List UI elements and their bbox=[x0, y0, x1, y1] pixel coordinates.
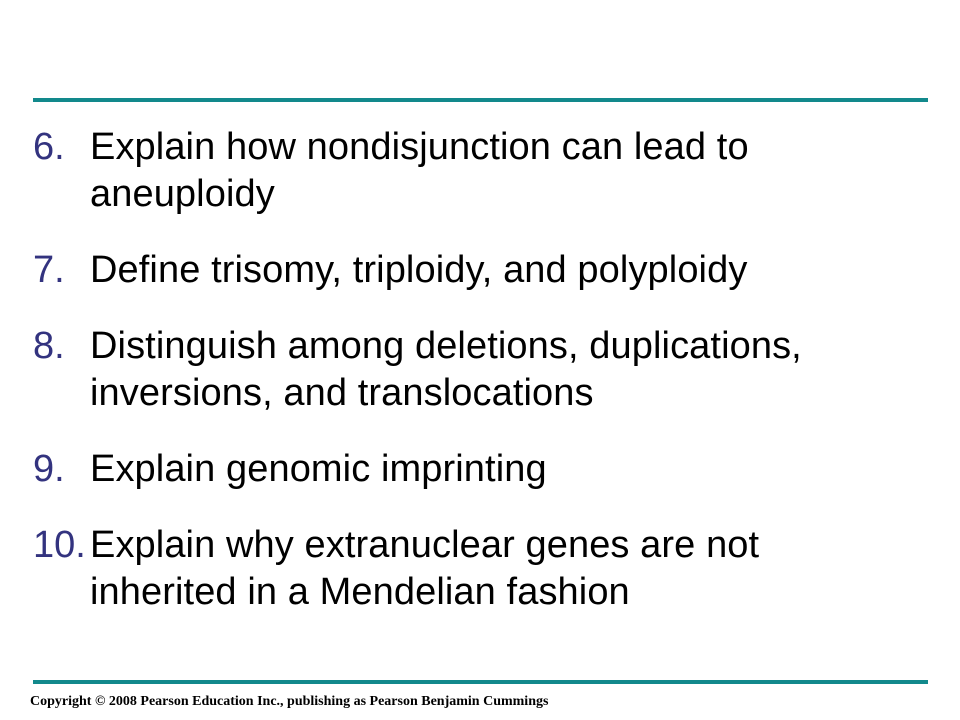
list-item-number: 9. bbox=[33, 446, 90, 493]
list-item: 8. Distinguish among deletions, duplicat… bbox=[33, 323, 913, 417]
list-item-text: Explain genomic imprinting bbox=[90, 446, 913, 493]
list-item-text: Distinguish among deletions, duplication… bbox=[90, 323, 913, 417]
list-item-number: 8. bbox=[33, 323, 90, 370]
list-item-number: 6. bbox=[33, 124, 90, 171]
copyright-footer: Copyright © 2008 Pearson Education Inc.,… bbox=[30, 693, 548, 711]
list-item: 7. Define trisomy, triploidy, and polypl… bbox=[33, 247, 913, 294]
list-item-number: 7. bbox=[33, 247, 90, 294]
list-item: 9. Explain genomic imprinting bbox=[33, 446, 913, 493]
top-divider-rule bbox=[33, 98, 928, 102]
list-item-text: Define trisomy, triploidy, and polyploid… bbox=[90, 247, 913, 294]
list-item: 10. Explain why extranuclear genes are n… bbox=[33, 522, 913, 616]
list-item: 6. Explain how nondisjunction can lead t… bbox=[33, 124, 913, 218]
bottom-divider-rule bbox=[33, 680, 928, 684]
objectives-list-container: 6. Explain how nondisjunction can lead t… bbox=[33, 124, 913, 616]
list-item-text: Explain why extranuclear genes are not i… bbox=[90, 522, 913, 616]
list-item-number: 10. bbox=[33, 522, 90, 569]
list-item-text: Explain how nondisjunction can lead to a… bbox=[90, 124, 913, 218]
objectives-list: 6. Explain how nondisjunction can lead t… bbox=[33, 124, 913, 616]
slide: 6. Explain how nondisjunction can lead t… bbox=[0, 0, 960, 720]
